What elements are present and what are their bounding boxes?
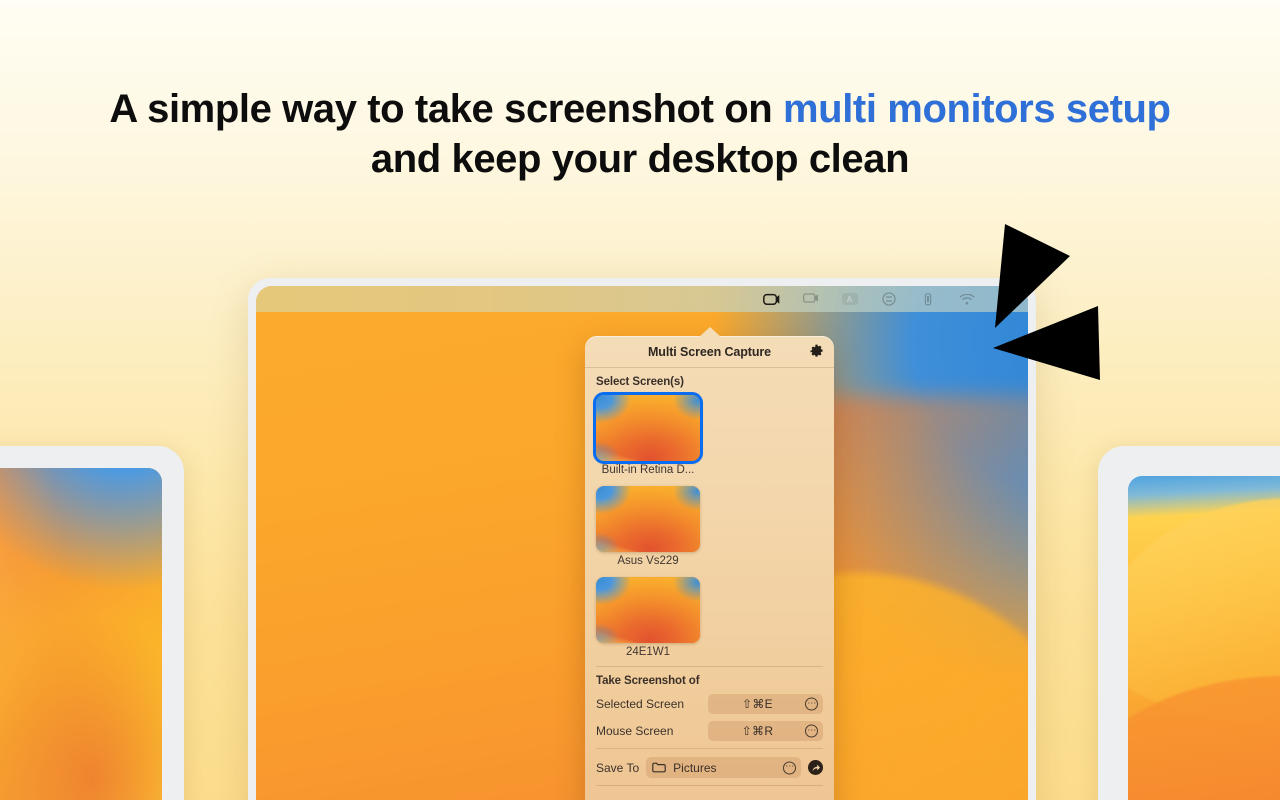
screen-thumbnail (596, 577, 700, 643)
popover-header: Multi Screen Capture (585, 336, 834, 368)
wallpaper-left (0, 468, 162, 800)
screen-mirroring-icon[interactable] (802, 292, 819, 306)
save-to-options-icon[interactable]: ⋯ (783, 761, 796, 774)
save-to-label: Save To (596, 761, 639, 775)
screen-thumbnail-grid: Built-in Retina D... Asus Vs229 24E1W1 (596, 395, 823, 658)
popover-title: Multi Screen Capture (648, 345, 771, 359)
screen-option-24e1w1[interactable]: 24E1W1 (596, 577, 700, 658)
share-arrow-icon[interactable] (808, 760, 823, 775)
select-screens-label: Select Screen(s) (596, 376, 823, 388)
screen-thumbnail-wallpaper (596, 395, 700, 461)
wifi-icon[interactable] (958, 292, 975, 306)
shortcut-options-icon[interactable]: ⋯ (805, 725, 818, 738)
multi-screen-capture-popover: Multi Screen Capture Select Screen(s) Bu… (585, 336, 834, 800)
divider (596, 748, 823, 749)
control-center-icon[interactable] (880, 292, 897, 306)
input-source-label: A (842, 293, 858, 305)
input-source-icon[interactable]: A (841, 292, 858, 306)
save-to-row: Save To Pictures ⋯ (596, 757, 823, 778)
quit-button-wrap: Quit (585, 794, 834, 800)
screen-thumbnail-wallpaper (596, 577, 700, 643)
screen-option-label: Asus Vs229 (596, 555, 700, 567)
headline-accent: multi monitors setup (783, 87, 1171, 131)
shortcut-label: Mouse Screen (596, 724, 700, 738)
promo-stage: A simple way to take screenshot on multi… (0, 0, 1280, 800)
shortcut-field-selected-screen[interactable]: ⇧⌘E ⋯ (708, 694, 823, 714)
headline-line2: and keep your desktop clean (371, 137, 909, 181)
secondary-monitor-right-screen (1128, 476, 1280, 800)
screen-thumbnail (596, 486, 700, 552)
divider (596, 785, 823, 786)
headline-line1-before: A simple way to take screenshot on (109, 87, 783, 131)
ellipsis-glyph: ⋯ (785, 762, 794, 771)
shortcut-row-selected-screen: Selected Screen ⇧⌘E ⋯ (596, 694, 823, 714)
divider (596, 666, 823, 667)
shortcut-options-icon[interactable]: ⋯ (805, 698, 818, 711)
screen-thumbnail-wallpaper (596, 486, 700, 552)
take-screenshot-label: Take Screenshot of (596, 675, 823, 687)
wallpaper-right (1128, 476, 1280, 800)
ellipsis-glyph: ⋯ (807, 725, 816, 734)
battery-icon[interactable] (919, 292, 936, 306)
gear-icon[interactable] (807, 343, 825, 361)
screen-option-builtin[interactable]: Built-in Retina D... (596, 395, 700, 476)
secondary-monitor-left (0, 446, 184, 800)
ellipsis-glyph: ⋯ (807, 698, 816, 707)
secondary-monitor-left-screen (0, 468, 162, 800)
camera-capture-icon[interactable] (763, 292, 780, 306)
shortcut-row-mouse-screen: Mouse Screen ⇧⌘R ⋯ (596, 721, 823, 741)
shortcut-keys: ⇧⌘R (742, 724, 790, 738)
menu-bar: A (256, 286, 1028, 312)
clock-icon[interactable] (997, 292, 1014, 306)
screen-option-label: Built-in Retina D... (596, 464, 700, 476)
screen-option-asus[interactable]: Asus Vs229 (596, 486, 700, 567)
popover-body: Select Screen(s) Built-in Retina D... As… (585, 368, 834, 786)
page-title: A simple way to take screenshot on multi… (0, 84, 1280, 184)
secondary-monitor-right (1098, 446, 1280, 800)
folder-icon (652, 762, 666, 773)
shortcut-label: Selected Screen (596, 697, 700, 711)
screen-option-label: 24E1W1 (596, 646, 700, 658)
shortcut-field-mouse-screen[interactable]: ⇧⌘R ⋯ (708, 721, 823, 741)
save-to-value: Pictures (673, 761, 716, 775)
shortcut-keys: ⇧⌘E (742, 697, 789, 711)
screen-thumbnail (596, 395, 700, 461)
save-to-field[interactable]: Pictures ⋯ (646, 757, 801, 778)
